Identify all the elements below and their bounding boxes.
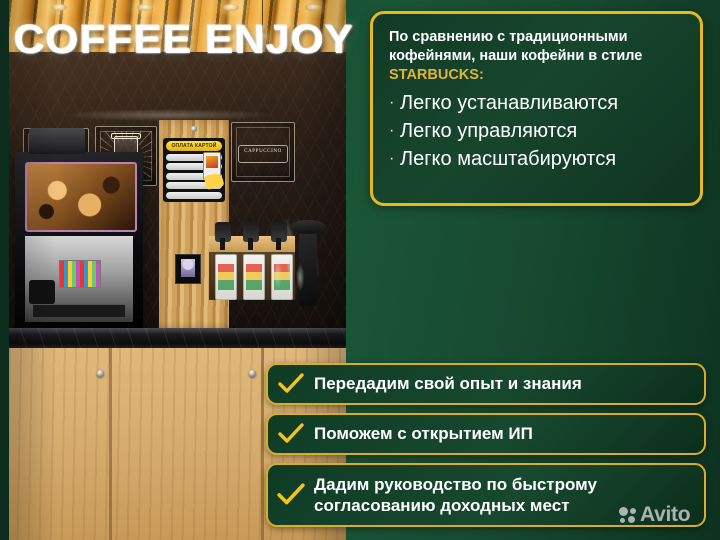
coffee-shop-photo: ESPRESSO ROAST COFFEE ENJOY CAPPUCCINO	[0, 0, 346, 540]
decorative-plant	[261, 246, 317, 302]
info-lead-line-2: кофейнями, наши кофейни в стиле	[389, 47, 686, 66]
check-icon	[268, 373, 314, 395]
ceiling-light-icon	[137, 4, 153, 11]
ceiling-light-icon	[223, 4, 239, 11]
cabinet-seam	[109, 348, 112, 540]
bullet-marker-icon: ·	[389, 120, 400, 143]
list-item: ·Легко устанавливаются	[389, 89, 686, 117]
syrup-dispenser	[243, 222, 259, 242]
info-bullet-list: ·Легко устанавливаются ·Легко управляютс…	[389, 89, 686, 174]
check-icon	[268, 483, 314, 507]
benefit-card: Поможем с открытием ИП	[266, 413, 706, 455]
machine-top-unit	[29, 128, 85, 154]
card-payment-sign: ОПЛАТА КАРТОЙ	[163, 138, 225, 202]
poster-cappuccino: CAPPUCCINO	[231, 122, 295, 182]
cabinet-seam	[261, 348, 264, 540]
machine-nozzles	[59, 260, 101, 288]
list-item: ·Легко масштабируются	[389, 145, 686, 173]
screw-icon	[191, 126, 197, 132]
bullet-text: Легко масштабируются	[400, 148, 616, 170]
cup-lid-icon	[111, 133, 141, 139]
benefit-line-1: Дадим руководство по быстрому	[314, 474, 597, 495]
avito-watermark: Avito	[619, 503, 690, 527]
syrup-bottle	[215, 254, 237, 300]
comparison-info-box: По сравнению с традиционными кофейнями, …	[370, 11, 703, 206]
card-payment-title: ОПЛАТА КАРТОЙ	[166, 141, 222, 151]
benefit-text: Поможем с открытием ИП	[314, 423, 543, 444]
avito-wordmark: Avito	[640, 503, 690, 527]
poster-inner-frame	[236, 127, 290, 177]
benefit-card: Передадим свой опыт и знания	[266, 363, 706, 405]
poster-title: CAPPUCCINO	[232, 149, 294, 154]
bullet-text: Легко управляются	[400, 120, 577, 142]
syrup-dispenser	[271, 222, 287, 242]
page-title: COFFEE ENJOY	[14, 18, 354, 63]
benefit-text: Передадим свой опыт и знания	[314, 373, 592, 394]
coffee-vending-machine	[15, 152, 143, 330]
info-lead-line-1: По сравнению с традиционными	[389, 28, 686, 47]
benefit-line-1: Передадим свой опыт и знания	[314, 373, 582, 394]
machine-hopper	[29, 280, 55, 304]
machine-display-screen	[25, 162, 137, 232]
machine-drip-tray	[33, 304, 125, 317]
cabinet-knob	[249, 370, 256, 377]
info-brand-label: STARBUCKS:	[389, 66, 686, 85]
ceiling-light-icon	[51, 4, 67, 11]
benefit-text: Дадим руководство по быстрому согласован…	[314, 474, 607, 517]
bullet-marker-icon: ·	[389, 92, 400, 115]
avito-logo-icon	[619, 507, 636, 524]
bullet-marker-icon: ·	[389, 148, 400, 171]
syrup-dispenser	[215, 222, 231, 242]
marble-countertop	[9, 328, 346, 350]
benefit-line-2: согласованию доходных мест	[314, 495, 597, 516]
ceiling-light-icon	[305, 4, 321, 11]
cabinet-knob	[97, 370, 104, 377]
qr-sticker	[175, 254, 201, 284]
bullet-text: Легко устанавливаются	[400, 92, 618, 114]
check-icon	[268, 423, 314, 445]
list-item: ·Легко управляются	[389, 117, 686, 145]
benefit-line-1: Поможем с открытием ИП	[314, 423, 533, 444]
promo-banner: ESPRESSO ROAST COFFEE ENJOY CAPPUCCINO	[0, 0, 720, 540]
payment-option-row	[166, 192, 222, 199]
poster-ribbon	[238, 145, 288, 163]
